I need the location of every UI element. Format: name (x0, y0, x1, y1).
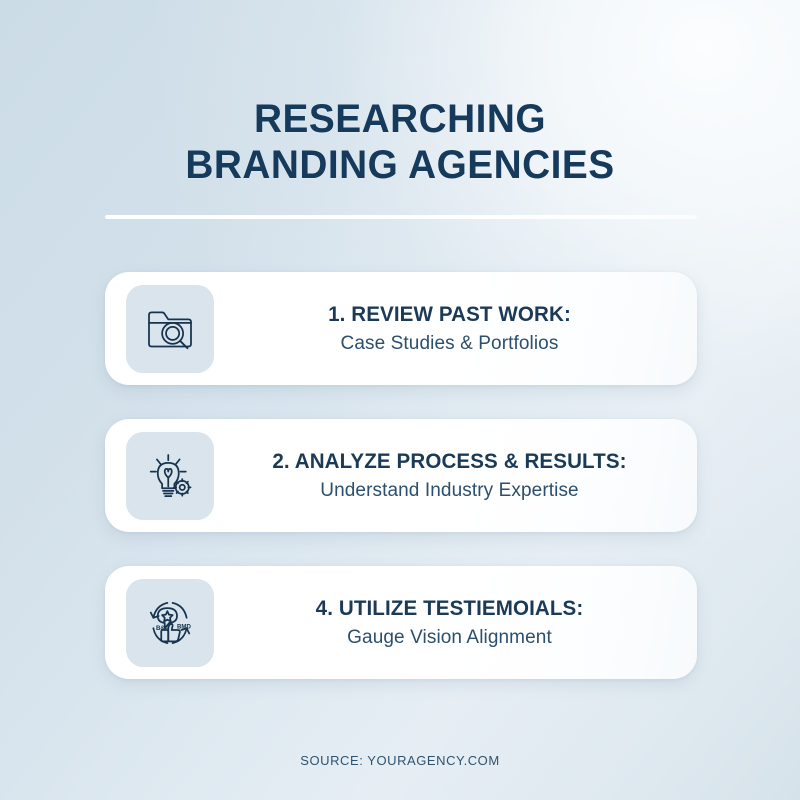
testimonial-star-thumbsup-icon: B&A BMD (142, 595, 198, 651)
step-card-2[interactable]: 2. ANALYZE PROCESS & RESULTS: Understand… (105, 419, 697, 532)
step-2-text: 2. ANALYZE PROCESS & RESULTS: Understand… (214, 448, 697, 504)
step-card-3[interactable]: B&A BMD 4. UTILIZE TESTIEMOIALS: Gauge V… (105, 566, 697, 679)
footer: SOURCE: YOURAGENCY.COM (0, 752, 800, 770)
title-line-2: BRANDING AGENCIES (12, 142, 788, 188)
folder-search-icon (142, 301, 198, 357)
step-1-heading: 1. REVIEW PAST WORK: (225, 301, 675, 328)
title-line-1: RESEARCHING (12, 96, 788, 142)
step-3-icon-tile: B&A BMD (126, 579, 214, 667)
step-1-subtext: Case Studies & Portfolios (220, 330, 679, 357)
step-2-subtext: Understand Industry Expertise (220, 477, 679, 504)
page-title: RESEARCHING BRANDING AGENCIES (0, 96, 800, 188)
title-divider (105, 215, 697, 219)
icon-label-left: B&A (156, 625, 170, 632)
step-card-1[interactable]: 1. REVIEW PAST WORK: Case Studies & Port… (105, 272, 697, 385)
steps-list: 1. REVIEW PAST WORK: Case Studies & Port… (105, 272, 697, 679)
icon-label-right: BMD (177, 623, 192, 630)
step-1-icon-tile (126, 285, 214, 373)
step-3-heading: 4. UTILIZE TESTIEMOIALS: (225, 595, 675, 622)
step-2-heading: 2. ANALYZE PROCESS & RESULTS: (225, 448, 675, 475)
source-text: SOURCE: YOURAGENCY.COM (300, 753, 499, 768)
step-3-subtext: Gauge Vision Alignment (220, 624, 679, 651)
infographic-canvas: RESEARCHING BRANDING AGENCIES 1. REVIEW … (0, 0, 800, 800)
lightbulb-gear-icon (142, 448, 198, 504)
step-1-text: 1. REVIEW PAST WORK: Case Studies & Port… (214, 301, 697, 357)
step-3-text: 4. UTILIZE TESTIEMOIALS: Gauge Vision Al… (214, 595, 697, 651)
step-2-icon-tile (126, 432, 214, 520)
